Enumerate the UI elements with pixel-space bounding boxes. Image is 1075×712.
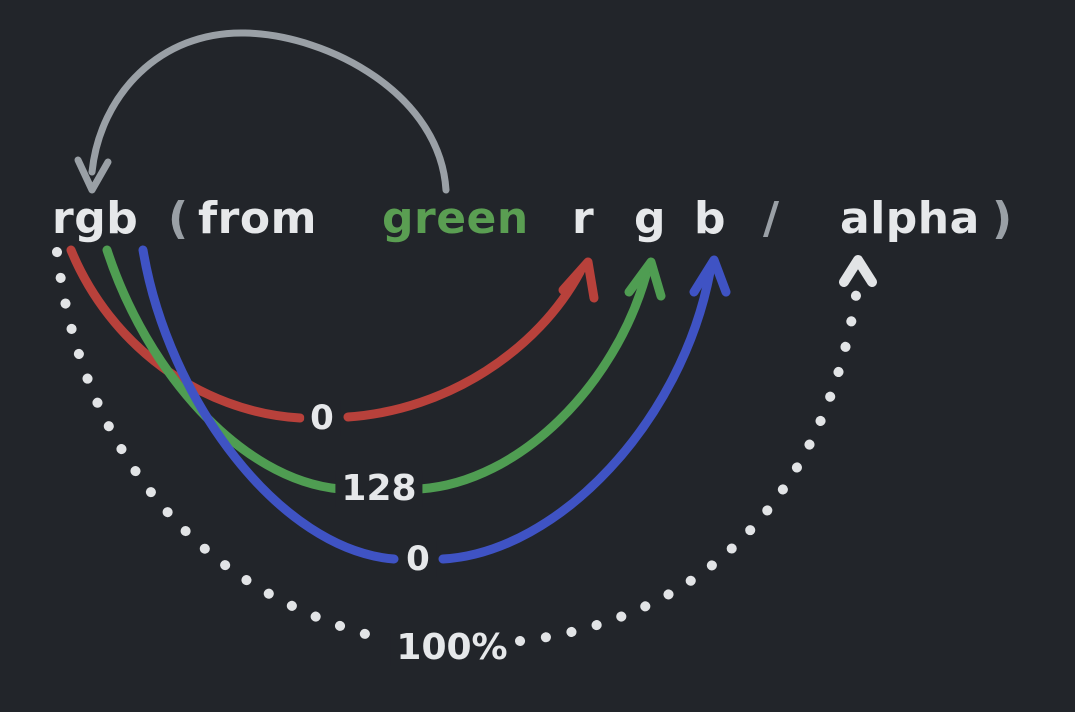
- diagram-canvas: rgb ( from green r g b / alpha ) 0 128 0…: [0, 0, 1075, 712]
- close-paren: ): [992, 195, 1013, 243]
- function-name-rgb: rgb: [52, 195, 138, 243]
- origin-to-function-arrow: [78, 33, 446, 190]
- keyword-from: from: [198, 195, 317, 243]
- arrows-layer: [0, 0, 1075, 712]
- channel-g: g: [634, 195, 666, 243]
- blue-channel-value-label: 0: [400, 541, 436, 577]
- open-paren: (: [168, 195, 189, 243]
- g-value-arrow: [107, 250, 661, 489]
- css-syntax-line: rgb ( from green r g b / alpha ): [0, 195, 1075, 255]
- red-channel-value-label: 0: [304, 400, 340, 436]
- channel-alpha: alpha: [840, 195, 980, 243]
- slash-separator: /: [763, 195, 780, 243]
- origin-color-green: green: [382, 195, 529, 243]
- alpha-value-arrow: [57, 252, 872, 641]
- channel-r: r: [572, 195, 594, 243]
- alpha-channel-value-label: 100%: [390, 630, 513, 666]
- green-channel-value-label: 128: [335, 471, 422, 507]
- channel-b: b: [694, 195, 726, 243]
